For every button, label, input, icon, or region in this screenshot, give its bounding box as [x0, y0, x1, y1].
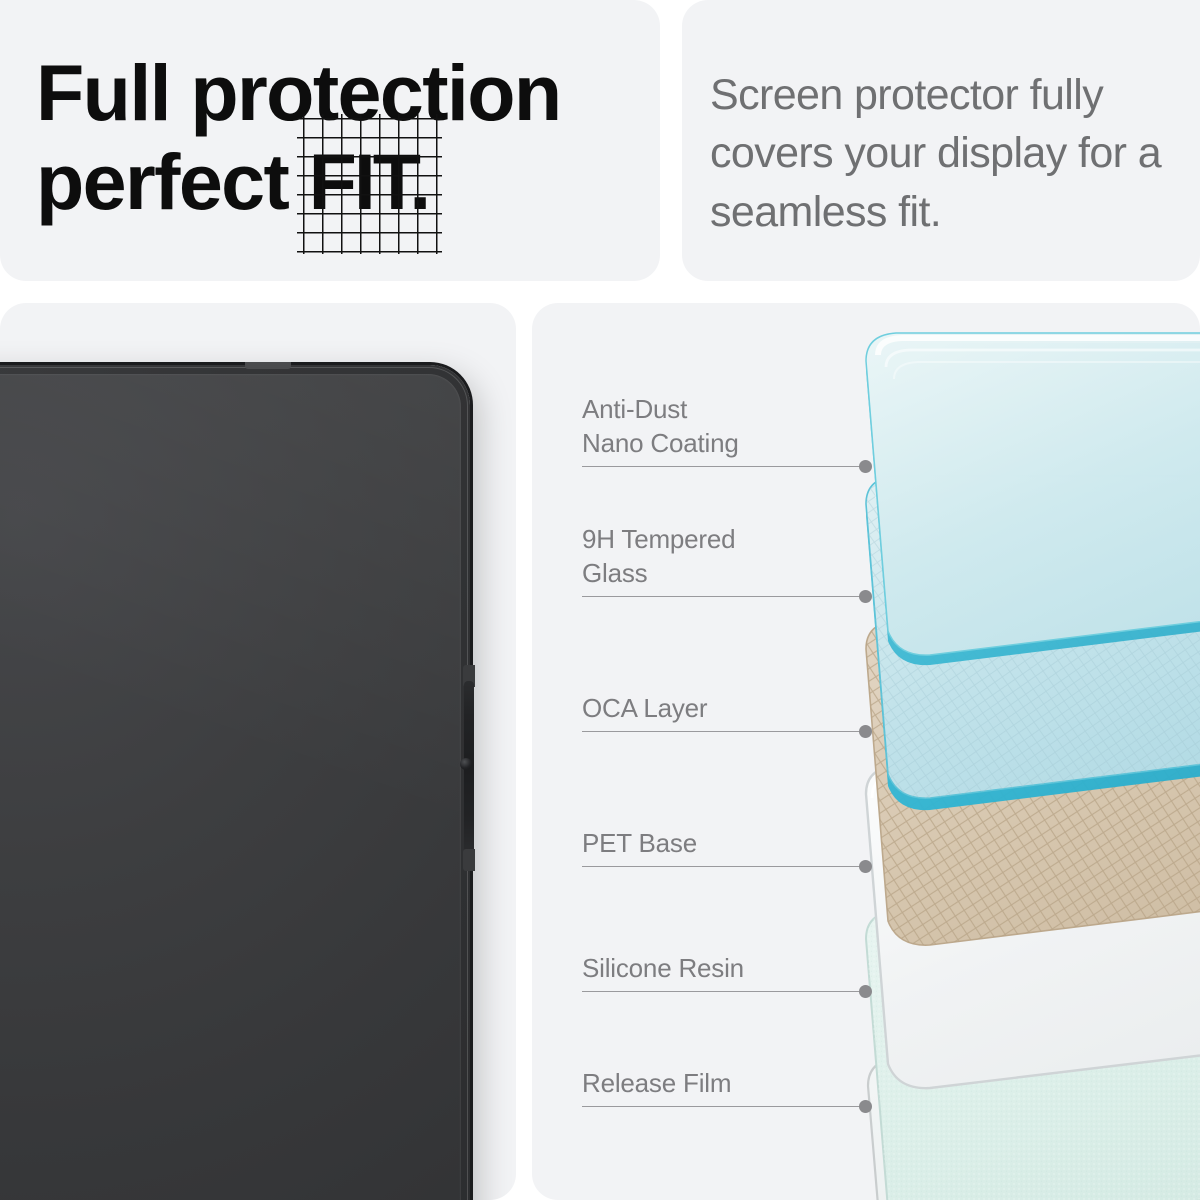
layer-label-anti-dust-nano-coating: Anti-Dust Nano Coating: [582, 373, 922, 473]
leader-dot: [859, 860, 872, 873]
camera-icon: [460, 758, 472, 770]
leader-line: [582, 731, 865, 733]
layer-label-release-film: Release Film: [582, 1043, 922, 1113]
device-side-notch-bottom: [463, 849, 475, 871]
layer-label-text: 9H Tempered Glass: [582, 523, 852, 591]
headline-emphasis-text: FIT.: [309, 137, 429, 226]
layer-sheet-oca: [828, 613, 1200, 958]
subtext-panel: Screen protector fully covers your displ…: [682, 0, 1200, 281]
leader-line: [582, 866, 865, 868]
layer-label-text: Anti-Dust Nano Coating: [582, 393, 852, 461]
exploded-layer-diagram: Anti-Dust Nano Coating 9H Tempered Glass…: [532, 303, 1200, 1200]
layer-label-text: Release Film: [582, 1067, 852, 1101]
leader-line: [582, 596, 865, 598]
headline-line-2-prefix: perfect: [36, 137, 309, 226]
device-screen: [0, 374, 461, 1200]
layer-label-silicone-resin: Silicone Resin: [582, 928, 922, 998]
leader-line: [582, 1106, 865, 1108]
headline-emphasis-fit: FIT.: [309, 137, 429, 226]
leader-line: [582, 466, 865, 468]
layer-label-oca-layer: OCA Layer: [582, 668, 922, 738]
headline-line-2: perfect FIT.: [36, 137, 636, 226]
layer-label-9h-tempered-glass: 9H Tempered Glass: [582, 503, 922, 603]
leader-line: [582, 991, 865, 993]
device-antenna-notch: [245, 362, 291, 369]
headline-line-1: Full protection: [36, 48, 636, 137]
leader-dot: [859, 590, 872, 603]
infographic-canvas: Full protection perfect FIT. Screen prot…: [0, 0, 1200, 1200]
device-panel: [0, 303, 516, 1200]
tablet-device: [0, 365, 470, 1200]
leader-dot: [859, 725, 872, 738]
subtext-body: Screen protector fully covers your displ…: [710, 66, 1180, 241]
layer-label-text: OCA Layer: [582, 692, 852, 726]
leader-dot: [859, 460, 872, 473]
layer-label-text: PET Base: [582, 827, 852, 861]
leader-dot: [859, 985, 872, 998]
leader-dot: [859, 1100, 872, 1113]
layers-panel: Anti-Dust Nano Coating 9H Tempered Glass…: [532, 303, 1200, 1200]
layer-label-pet-base: PET Base: [582, 803, 922, 873]
layer-label-text: Silicone Resin: [582, 952, 852, 986]
device-body: [0, 365, 470, 1200]
headline-panel: Full protection perfect FIT.: [0, 0, 660, 281]
headline: Full protection perfect FIT.: [36, 48, 636, 227]
